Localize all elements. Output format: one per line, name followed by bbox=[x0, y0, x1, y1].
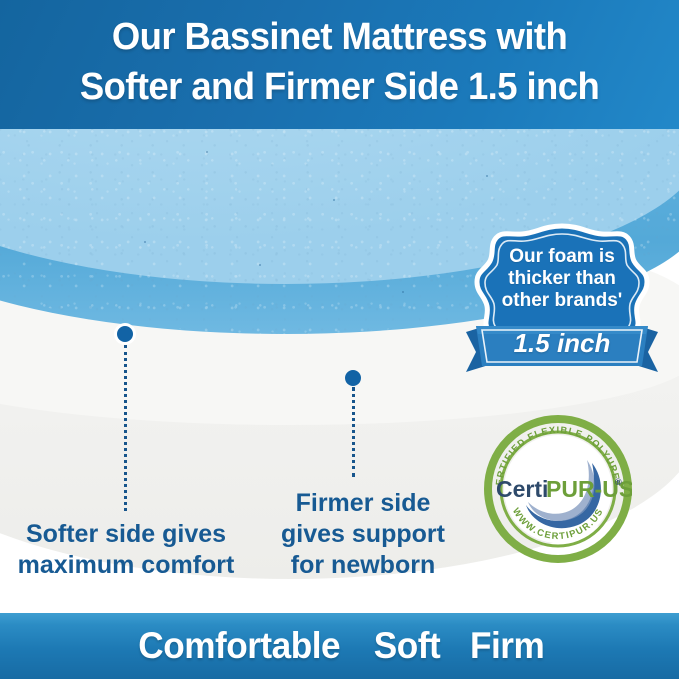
foam-speck bbox=[144, 241, 146, 243]
infographic-page: Our Bassinet Mattress with Softer and Fi… bbox=[0, 0, 679, 679]
softer-side-caption: Softer side gives maximum comfort bbox=[6, 519, 246, 581]
foam-speck bbox=[206, 151, 208, 153]
badge-headline: Our foam is thicker than other brands' bbox=[478, 246, 646, 312]
foam-speck bbox=[486, 175, 488, 177]
page-title: Our Bassinet Mattress with Softer and Fi… bbox=[14, 12, 666, 112]
seal-wordmark-certi: Certi bbox=[496, 476, 548, 502]
footer-word-soft: Soft bbox=[373, 626, 439, 666]
footer-banner: Comfortable Soft Firm bbox=[0, 613, 679, 679]
firmer-side-marker-dot[interactable] bbox=[345, 370, 361, 386]
footer-word-comfortable: Comfortable bbox=[139, 626, 341, 666]
header-banner: Our Bassinet Mattress with Softer and Fi… bbox=[0, 0, 679, 129]
foam-speck bbox=[259, 264, 261, 266]
certipur-us-seal: CONTAINS CERTIFIED FLEXIBLE POLYURETHANE… bbox=[484, 415, 632, 563]
softer-side-leader-line bbox=[124, 345, 127, 511]
foam-speck bbox=[333, 199, 335, 201]
firmer-side-caption: Firmer side gives support for newborn bbox=[268, 488, 458, 581]
seal-registered-mark: ® bbox=[615, 477, 622, 487]
badge-ribbon-value: 1.5 inch bbox=[484, 328, 640, 358]
thickness-badge: Our foam is thicker than other brands' 1… bbox=[462, 224, 662, 379]
firmer-side-leader-line bbox=[352, 387, 355, 477]
softer-side-marker-dot[interactable] bbox=[117, 326, 133, 342]
footer-word-firm: Firm bbox=[470, 626, 544, 666]
foam-speck bbox=[402, 291, 404, 293]
